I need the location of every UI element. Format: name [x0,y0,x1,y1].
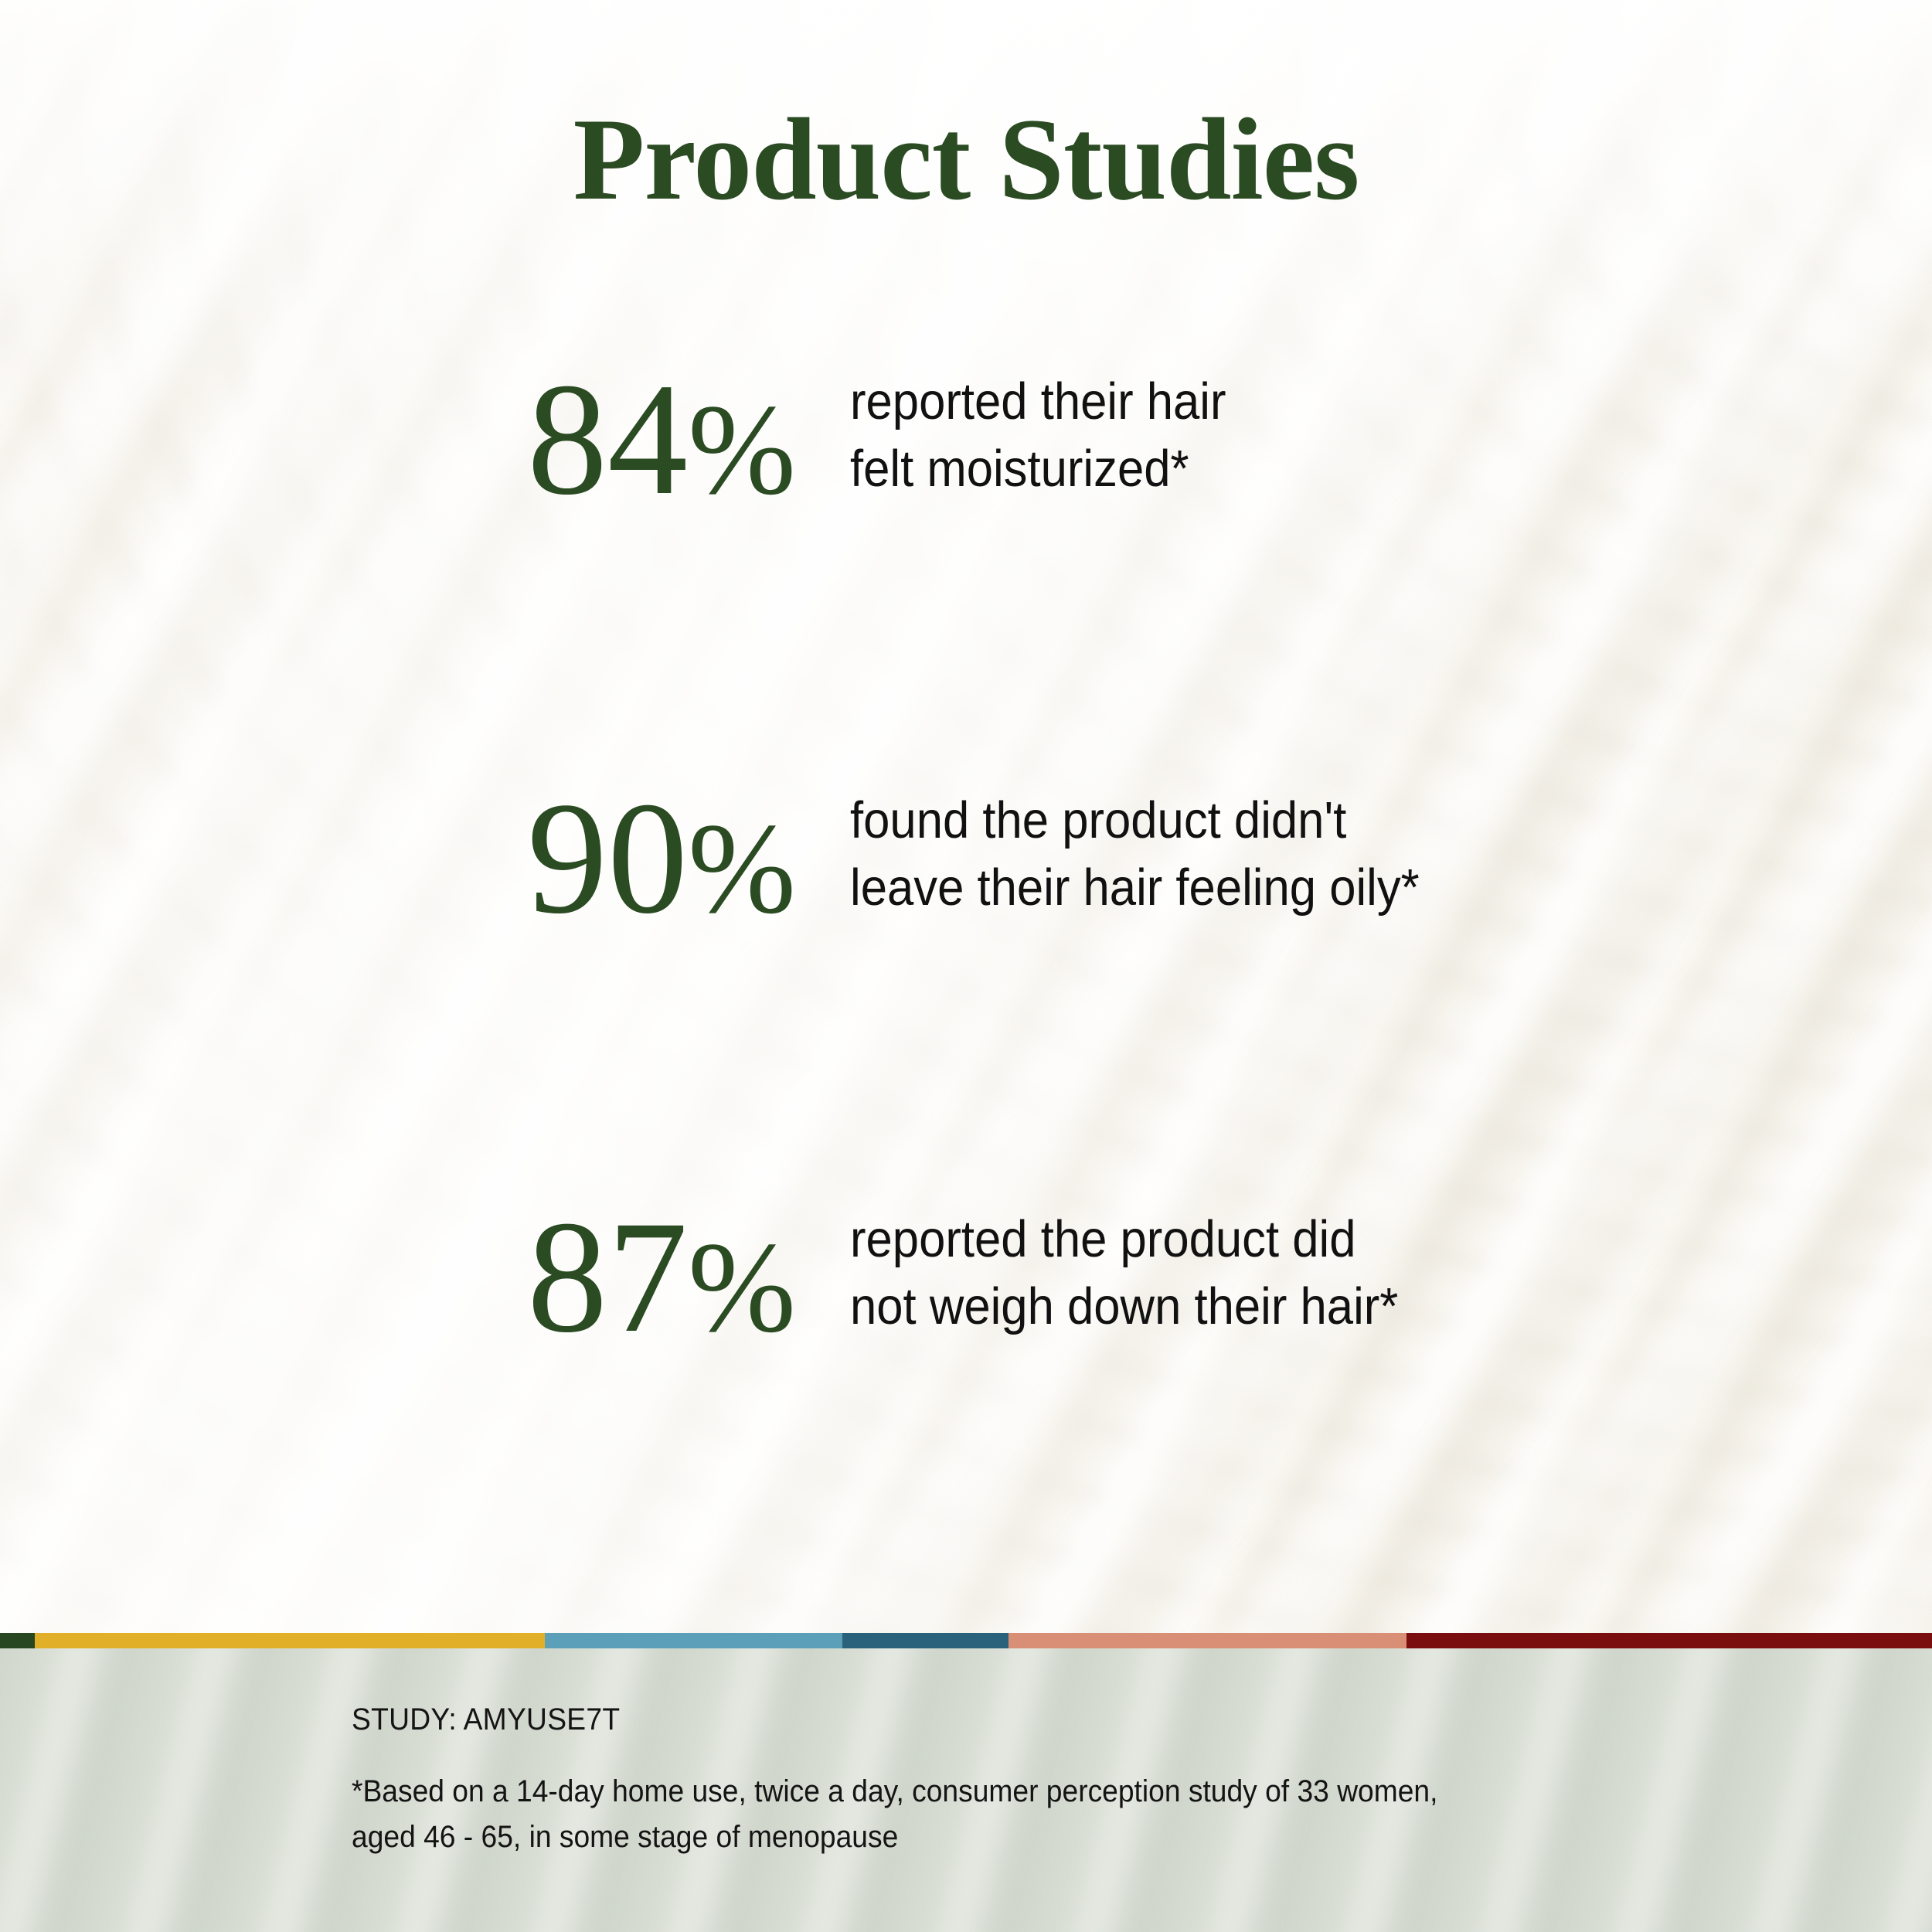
statistic-description: reported the product did not weigh down … [850,1206,1398,1340]
stripe-segment-light-blue [545,1633,842,1648]
statistic-percentage: 87% [0,1196,796,1357]
statistic-description-line-1: reported their hair [850,368,1226,435]
brand-color-stripe [0,1633,1932,1648]
statistic-percentage: 90% [0,777,796,938]
footer-content: STUDY: AMYUSE7T *Based on a 14-day home … [0,1648,1932,1860]
footer-panel: STUDY: AMYUSE7T *Based on a 14-day home … [0,1648,1932,1932]
statistic-description-line-2: felt moisturized* [850,435,1226,502]
percent-symbol: % [688,378,796,522]
statistic-description-line-1: found the product didn't [850,787,1420,854]
stripe-segment-gold [35,1633,545,1648]
statistic-description: reported their hair felt moisturized* [850,368,1226,502]
stripe-segment-dark-red [1406,1633,1932,1648]
disclaimer-line-1: *Based on a 14-day home use, twice a day… [352,1769,1821,1815]
disclaimer-line-2: aged 46 - 65, in some stage of menopause [352,1815,1821,1860]
statistic-description-line-2: leave their hair feeling oily* [850,854,1420,921]
page-title: Product Studies [0,100,1932,218]
statistic-row: 84% reported their hair felt moisturized… [0,433,1932,510]
statistic-description: found the product didn't leave their hai… [850,787,1420,921]
statistic-value: 84 [527,350,688,528]
statistic-row: 90% found the product didn't leave their… [0,852,1932,929]
study-id-label: STUDY: AMYUSE7T [352,1704,1821,1735]
product-studies-poster: Product Studies 84% reported their hair … [0,0,1932,1932]
statistic-description-line-1: reported the product did [850,1206,1398,1273]
percent-symbol: % [688,797,796,940]
statistic-row: 87% reported the product did not weigh d… [0,1270,1932,1348]
stripe-segment-dark-green [0,1633,35,1648]
study-disclaimer: *Based on a 14-day home use, twice a day… [352,1769,1821,1860]
statistic-value: 87 [527,1188,688,1366]
statistic-description-line-2: not weigh down their hair* [850,1273,1398,1340]
statistics-list: 84% reported their hair felt moisturized… [0,433,1932,1348]
percent-symbol: % [688,1216,796,1359]
statistic-value: 90 [527,769,688,947]
statistic-percentage: 84% [0,359,796,519]
stripe-segment-salmon [1009,1633,1406,1648]
stripe-segment-teal-blue [842,1633,1009,1648]
